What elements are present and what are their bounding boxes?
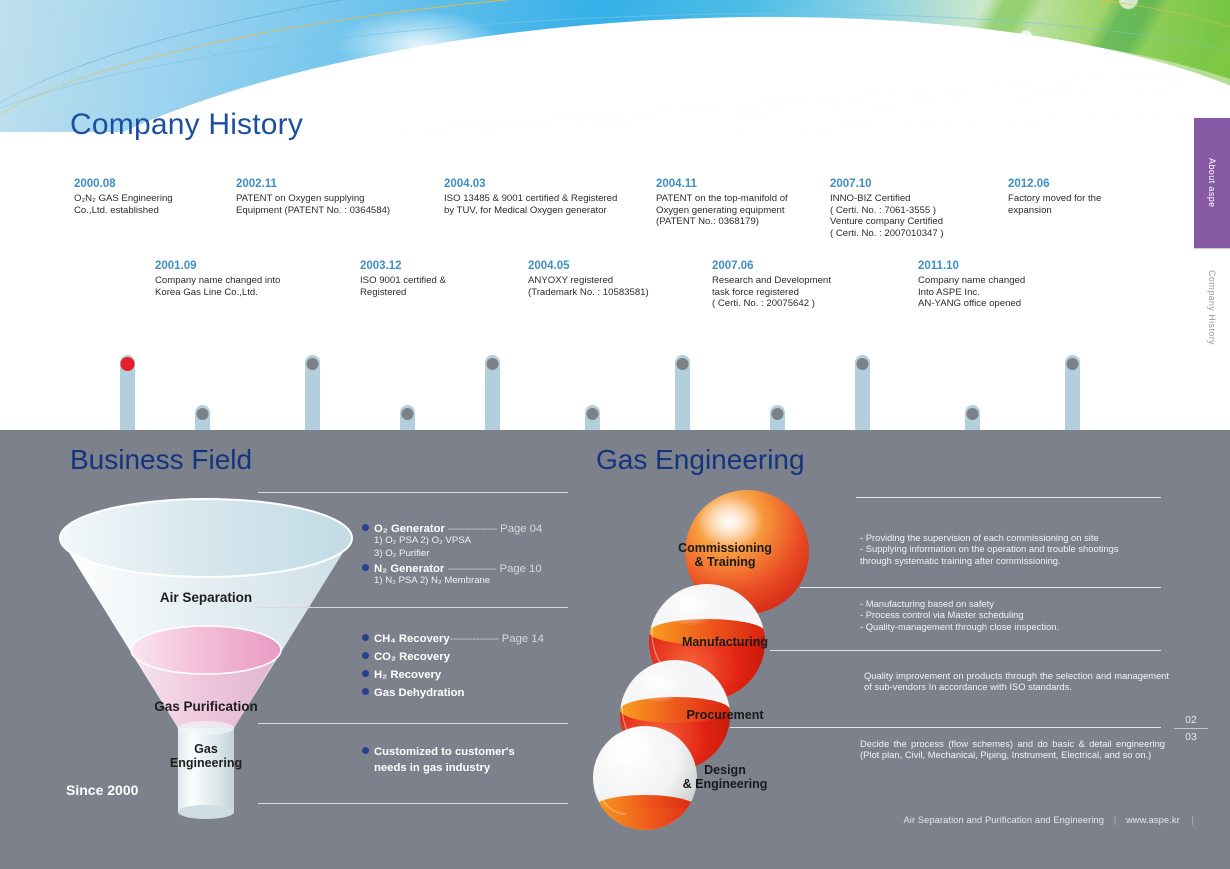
bf-item-label: Gas Dehydration <box>374 687 464 699</box>
event-year: 2004.11 <box>656 178 828 190</box>
page-ref: Page 10 <box>500 563 542 575</box>
event-text: O₂N₂ GAS Engineering Co.,Ltd. establishe… <box>74 193 234 216</box>
bf-item-label: CO₂ Recovery <box>374 651 450 663</box>
bullet-icon <box>362 688 369 695</box>
event-text: Company name changed into Korea Gas Line… <box>155 275 330 298</box>
event-text: ANYOXY registered (Trademark No. : 10583… <box>528 275 698 298</box>
event-year: 2004.05 <box>528 260 698 272</box>
event-text: Company name changed Into ASPE Inc. AN-Y… <box>918 275 1098 310</box>
bullet-icon <box>362 564 369 571</box>
ge-divider-2 <box>800 587 1161 588</box>
leader-dots: --------------- <box>450 633 499 645</box>
bullet-icon <box>362 634 369 641</box>
bullet-icon <box>362 524 369 531</box>
event-year: 2003.12 <box>360 260 510 272</box>
bf-subitem: 3) O₂ Purifier <box>374 548 567 561</box>
gas-engineering-title: Gas Engineering <box>596 444 805 476</box>
footer-tagline: Air Separation and Purification and Engi… <box>904 815 1105 825</box>
bullet-icon <box>362 652 369 659</box>
bf-item-gas-dehydration[interactable]: Gas Dehydration <box>362 687 567 699</box>
sphere-label-layer: Commissioning & Training Manufacturing P… <box>590 490 860 830</box>
funnel-label-air-separation: Air Separation <box>56 590 356 605</box>
bf-item-label: CH₄ Recovery <box>374 633 450 645</box>
footer-separator: | <box>1114 815 1117 825</box>
bf-item-o2-generator[interactable]: O₂ Generator --------------- Page 04 <box>362 523 567 535</box>
event-year: 2007.10 <box>830 178 1005 190</box>
leader-dots: --------------- <box>448 523 497 535</box>
history-event-2000-08: 2000.08 O₂N₂ GAS Engineering Co.,Ltd. es… <box>74 178 234 216</box>
bf-divider-3 <box>258 723 568 724</box>
history-event-2002-11: 2002.11 PATENT on Oxygen supplying Equip… <box>236 178 442 216</box>
ge-desc-commissioning: - Providing the supervision of each comm… <box>860 532 1172 566</box>
event-text: PATENT on the top-manifold of Oxygen gen… <box>656 193 828 228</box>
bf-item-h2-recovery[interactable]: H₂ Recovery <box>362 669 567 681</box>
bf-item-label: H₂ Recovery <box>374 669 441 681</box>
bf-group-customized: Customized to customer's needs in gas in… <box>362 746 567 774</box>
history-event-2007-06: 2007.06 Research and Development task fo… <box>712 260 887 310</box>
side-tab-company-history[interactable]: Company History <box>1194 248 1230 366</box>
event-text: INNO-BIZ Certified ( Certi. No. : 7061-3… <box>830 193 1005 239</box>
business-field-title: Business Field <box>70 444 252 476</box>
sphere-label-commissioning: Commissioning & Training <box>590 541 860 569</box>
bf-divider-2 <box>258 607 568 608</box>
company-history-section: Company History 2000.08 O₂N₂ GAS Enginee… <box>0 100 1182 430</box>
event-year: 2004.03 <box>444 178 654 190</box>
page-number-right: 03 <box>1174 729 1208 745</box>
bf-subitem: 1) N₂ PSA 2) N₂ Membrane <box>374 575 567 588</box>
event-text: PATENT on Oxygen supplying Equipment (PA… <box>236 193 442 216</box>
bf-subitem: 1) O₂ PSA 2) O₂ VPSA <box>374 535 567 548</box>
funnel-label-gas-engineering: Gas Engineering <box>56 742 356 770</box>
page-ref: Page 14 <box>502 633 544 645</box>
event-text: Research and Development task force regi… <box>712 275 887 310</box>
side-tab-nav[interactable]: About aspe Company History <box>1194 118 1230 368</box>
bf-item-ch4-recovery[interactable]: CH₄ Recovery--------------- Page 14 <box>362 633 567 645</box>
company-history-title: Company History <box>70 108 303 142</box>
ge-desc-manufacturing: - Manufacturing based on safety - Proces… <box>860 598 1172 632</box>
bullet-icon <box>362 670 369 677</box>
bullet-icon <box>362 747 369 754</box>
bf-item-n2-generator[interactable]: N₂ Generator --------------- Page 10 <box>362 563 567 575</box>
bf-item-label: N₂ Generator <box>374 563 444 575</box>
bf-item-co2-recovery[interactable]: CO₂ Recovery <box>362 651 567 663</box>
ge-desc-procurement: Quality improvement on products through … <box>864 670 1169 693</box>
bf-item-label: needs in gas industry <box>374 762 490 774</box>
history-event-2001-09: 2001.09 Company name changed into Korea … <box>155 260 330 298</box>
bf-item-customized[interactable]: Customized to customer's <box>362 746 567 758</box>
history-event-2007-10: 2007.10 INNO-BIZ Certified ( Certi. No. … <box>830 178 1005 239</box>
bf-item-label: O₂ Generator <box>374 523 445 535</box>
history-event-2004-11: 2004.11 PATENT on the top-manifold of Ox… <box>656 178 828 228</box>
sphere-label-procurement: Procurement <box>590 708 860 722</box>
event-year: 2012.06 <box>1008 178 1148 190</box>
leader-dots: --------------- <box>447 563 496 575</box>
timeline-marker-active <box>121 357 135 371</box>
event-year: 2011.10 <box>918 260 1098 272</box>
event-year: 2007.06 <box>712 260 887 272</box>
event-year: 2002.11 <box>236 178 442 190</box>
history-event-2004-03: 2004.03 ISO 13485 & 9001 certified & Reg… <box>444 178 654 216</box>
sphere-label-manufacturing: Manufacturing <box>590 635 860 649</box>
bf-divider-4 <box>258 803 568 804</box>
ge-divider-3 <box>770 650 1161 651</box>
ge-desc-design: Decide the process (flow schemes) and do… <box>860 738 1165 761</box>
ge-divider-4 <box>730 727 1161 728</box>
footer: Air Separation and Purification and Engi… <box>904 815 1195 825</box>
event-year: 2000.08 <box>74 178 234 190</box>
event-text: Factory moved for the expansion <box>1008 193 1148 216</box>
history-event-2012-06: 2012.06 Factory moved for the expansion <box>1008 178 1148 216</box>
history-event-2011-10: 2011.10 Company name changed Into ASPE I… <box>918 260 1098 310</box>
footer-website[interactable]: www.aspe.kr <box>1126 815 1180 825</box>
event-year: 2001.09 <box>155 260 330 272</box>
bf-item-label: Customized to customer's <box>374 746 515 758</box>
page-numbers: 02 03 <box>1174 712 1208 745</box>
lower-panel: Business Field Gas Engineering <box>0 430 1230 869</box>
business-field-funnel <box>56 490 356 820</box>
funnel-label-gas-purification: Gas Purification <box>56 699 356 714</box>
event-text: ISO 13485 & 9001 certified & Registered … <box>444 193 654 216</box>
page-number-left: 02 <box>1174 712 1208 728</box>
side-tab-about-aspe[interactable]: About aspe <box>1194 118 1230 248</box>
since-label: Since 2000 <box>66 782 138 798</box>
sphere-label-design: Design & Engineering <box>590 763 860 791</box>
bf-group-generators: O₂ Generator --------------- Page 04 1) … <box>362 523 567 588</box>
bf-group-recovery: CH₄ Recovery--------------- Page 14 CO₂ … <box>362 633 567 699</box>
ge-divider-1 <box>856 497 1161 498</box>
page-ref: Page 04 <box>500 523 542 535</box>
event-text: ISO 9001 certified & Registered <box>360 275 510 298</box>
history-event-2003-12: 2003.12 ISO 9001 certified & Registered <box>360 260 510 298</box>
bf-item-customized-line2: needs in gas industry <box>374 762 567 774</box>
footer-end-separator: | <box>1191 815 1194 825</box>
history-event-2004-05: 2004.05 ANYOXY registered (Trademark No.… <box>528 260 698 298</box>
bf-divider-1 <box>258 492 568 493</box>
